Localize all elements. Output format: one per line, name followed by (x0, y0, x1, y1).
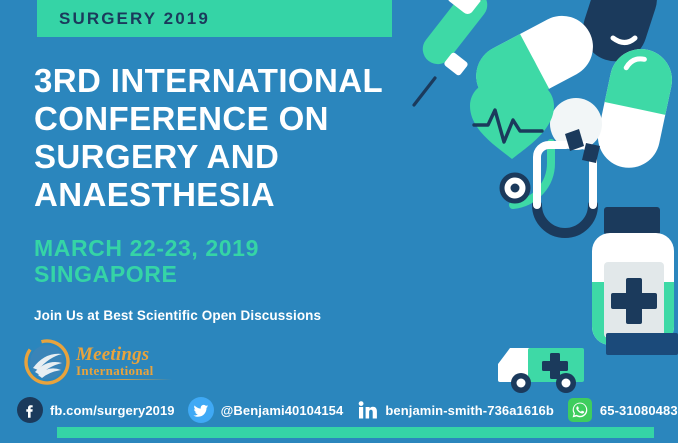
linkedin-handle[interactable]: benjamin-smith-736a1616b (385, 403, 554, 418)
medical-illustration-group (408, 0, 678, 443)
medicine-bottle-icon (592, 207, 674, 345)
ambulance-icon (498, 348, 584, 393)
linkedin-icon[interactable] (356, 397, 378, 423)
title-line-2: CONFERENCE ON (34, 100, 434, 138)
eyebrow-label: SURGERY 2019 (37, 9, 210, 29)
twitter-handle[interactable]: @Benjami40104154 (221, 403, 344, 418)
logo-divider (76, 379, 172, 380)
social-link-facebook[interactable]: fb.com/surgery2019 (17, 397, 175, 423)
logo-name-line-2: International (76, 364, 172, 377)
capsule-pill-icon (465, 5, 604, 118)
facebook-handle[interactable]: fb.com/surgery2019 (50, 403, 175, 418)
title-line-4: ANAESTHESIA (34, 176, 434, 214)
navy-pill-icon (575, 0, 666, 70)
capsule-pill-icon (550, 98, 602, 150)
social-link-twitter[interactable]: @Benjami40104154 (188, 397, 344, 423)
page-title: 3RD INTERNATIONAL CONFERENCE ON SURGERY … (34, 62, 434, 214)
conference-banner: SURGERY 2019 3RD INTERNATIONAL CONFERENC… (0, 0, 678, 443)
logo-wordmark: Meetings International (76, 345, 172, 380)
event-date: MARCH 22-23, 2019 (34, 235, 259, 261)
event-tagline: Join Us at Best Scientific Open Discussi… (34, 308, 321, 323)
twitter-icon[interactable] (188, 397, 214, 423)
logo-name-line-1: Meetings (76, 345, 172, 364)
capsule-pill-icon (592, 43, 678, 173)
title-line-3: SURGERY AND (34, 138, 434, 176)
globe-swoosh-icon (24, 339, 70, 385)
decor-slab (606, 333, 678, 355)
whatsapp-icon[interactable] (567, 397, 593, 423)
whatsapp-handle[interactable]: 65-31080483 (600, 403, 678, 418)
social-bar: fb.com/surgery2019 @Benjami40104154 benj… (0, 392, 678, 428)
title-line-1: 3RD INTERNATIONAL (34, 62, 434, 100)
eyebrow-banner: SURGERY 2019 (37, 0, 392, 37)
heart-ecg-icon (470, 82, 554, 159)
bottom-accent-strip (57, 427, 654, 438)
social-link-whatsapp[interactable]: 65-31080483 (567, 397, 678, 423)
social-link-linkedin[interactable]: benjamin-smith-736a1616b (356, 397, 554, 423)
meetings-international-logo: Meetings International (24, 338, 174, 386)
event-date-location: MARCH 22-23, 2019 SINGAPORE (34, 235, 259, 287)
stethoscope-icon (502, 129, 600, 233)
facebook-icon[interactable] (17, 397, 43, 423)
event-city: SINGAPORE (34, 261, 259, 287)
